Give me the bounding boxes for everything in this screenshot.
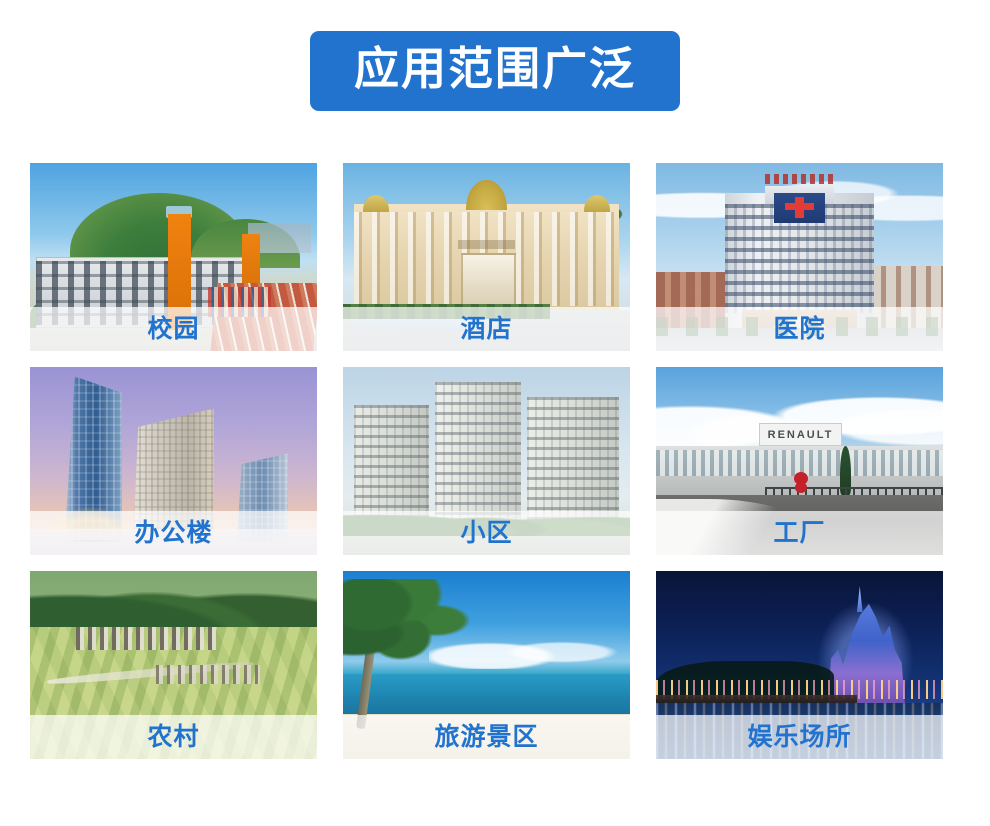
- scenario-card-factory[interactable]: RENAULT 工厂: [656, 367, 943, 555]
- scenario-label: 小区: [460, 518, 512, 548]
- scenario-card-rural[interactable]: 农村: [30, 571, 317, 759]
- golden-dome-shape: [466, 180, 506, 210]
- factory-signboard: RENAULT: [759, 423, 841, 446]
- hotel-signboard-shape: [458, 240, 515, 249]
- page-title-area: 应用范围广泛: [0, 31, 990, 111]
- scenario-card-hospital[interactable]: 医院: [656, 163, 943, 351]
- window-grid-shape: [435, 382, 521, 521]
- scenario-card-residential[interactable]: 小区: [343, 367, 630, 555]
- scenario-card-office-building[interactable]: 办公楼: [30, 367, 317, 555]
- forested-hills-shape: [30, 571, 317, 635]
- caption-band: 校园: [30, 307, 317, 351]
- scenario-label: 旅游景区: [434, 722, 538, 752]
- scenario-label: 娱乐场所: [747, 722, 851, 752]
- palm-fronds-shape: [343, 579, 475, 673]
- hotel-entrance-shape: [461, 253, 517, 310]
- scenario-label: 医院: [773, 314, 825, 344]
- caption-band: 小区: [343, 511, 630, 555]
- scenario-label: 办公楼: [134, 518, 212, 548]
- scenario-card-tourist-attraction[interactable]: 旅游景区: [343, 571, 630, 759]
- apartment-block-center-shape: [435, 382, 521, 521]
- caption-band: 酒店: [343, 307, 630, 351]
- scenario-label: 酒店: [460, 314, 512, 344]
- rooftop-sign-shape: [765, 174, 834, 183]
- scenario-label: 校园: [147, 314, 199, 344]
- page-title: 应用范围广泛: [310, 31, 680, 111]
- scenario-label: 工厂: [773, 518, 825, 548]
- caption-band: 办公楼: [30, 511, 317, 555]
- caption-band: 农村: [30, 715, 317, 759]
- red-cross-icon: [785, 203, 814, 210]
- caption-band: 旅游景区: [343, 715, 630, 759]
- promo-page: 应用范围广泛 校园: [0, 0, 990, 826]
- village-houses-secondary-shape: [156, 665, 259, 684]
- caption-band: 工厂: [656, 511, 943, 555]
- caption-band: 医院: [656, 307, 943, 351]
- golden-dome-left-shape: [363, 195, 389, 212]
- scenario-card-hotel[interactable]: 酒店: [343, 163, 630, 351]
- scenario-card-entertainment[interactable]: 娱乐场所: [656, 571, 943, 759]
- village-houses-shape: [76, 627, 220, 650]
- scenario-card-campus[interactable]: 校园: [30, 163, 317, 351]
- application-scenarios-grid: 校园 酒店: [30, 163, 942, 759]
- factory-sign-text: RENAULT: [768, 429, 834, 441]
- scenario-label: 农村: [147, 722, 199, 752]
- caption-band: 娱乐场所: [656, 715, 943, 759]
